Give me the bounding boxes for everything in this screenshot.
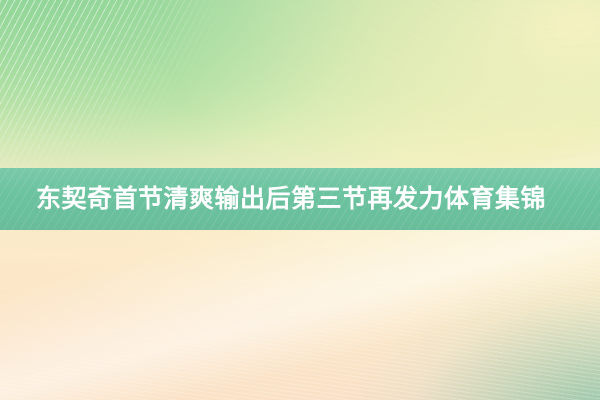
headline-band: 东契奇首节清爽输出后第三节再发力体育集锦	[0, 168, 600, 230]
headline-text: 东契奇首节清爽输出后第三节再发力体育集锦	[0, 187, 546, 212]
banner-image: 东契奇首节清爽输出后第三节再发力体育集锦	[0, 0, 600, 400]
